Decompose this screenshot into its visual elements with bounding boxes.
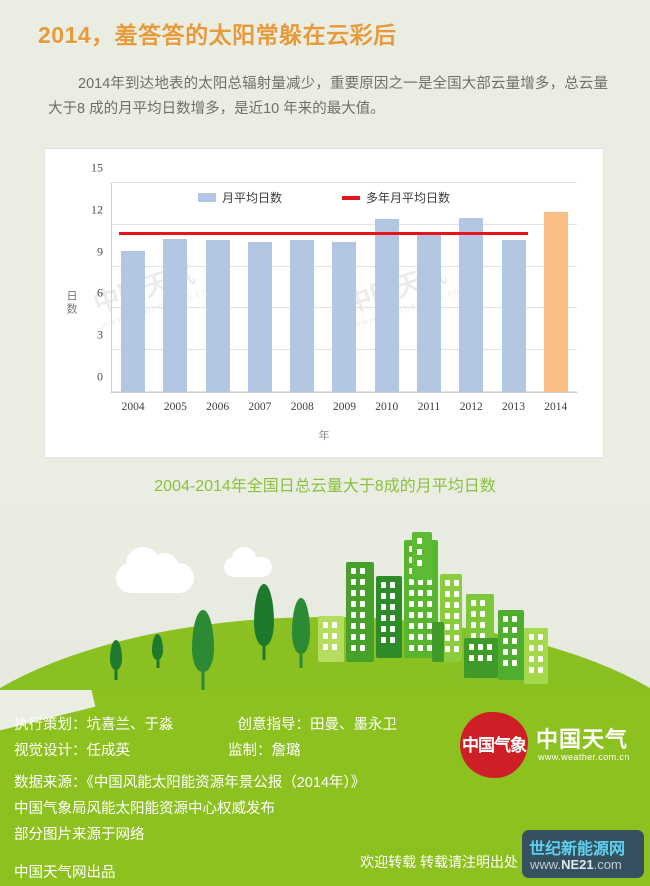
building-window xyxy=(427,612,432,618)
seal-icon: 中国气象 xyxy=(460,712,528,778)
produced-by: 中国天气网出品 xyxy=(14,860,397,886)
building-window xyxy=(418,590,423,596)
bar-slot: 2006 xyxy=(197,183,239,392)
building-window xyxy=(538,645,543,651)
building-window xyxy=(360,579,365,585)
y-axis-tick: 15 xyxy=(91,161,103,176)
bar-2010 xyxy=(375,219,399,392)
tree-trunk xyxy=(202,672,205,692)
tree-crown xyxy=(152,634,163,660)
bar-2006 xyxy=(206,240,230,392)
building-window xyxy=(480,611,485,617)
building-window xyxy=(445,624,450,630)
building-window xyxy=(390,593,395,599)
building-window xyxy=(445,646,450,652)
building-window xyxy=(478,644,483,650)
source-block: 数据来源：《中国风能太阳能资源年景公报（2014年）》 中国气象局风能太阳能资源… xyxy=(14,770,397,848)
building-window xyxy=(529,656,534,662)
bar-2009 xyxy=(332,242,356,392)
building-window xyxy=(454,635,459,641)
credits-block: 执行策划：坑喜兰、于淼创意指导：田曼、墨永卫 视觉设计：任成英监制：詹璐 数据来… xyxy=(14,712,397,886)
building-window xyxy=(503,627,508,633)
building-window xyxy=(351,645,356,651)
building-window xyxy=(454,613,459,619)
tree-crown xyxy=(292,598,310,654)
building-window xyxy=(390,615,395,621)
bar-slot: 2005 xyxy=(154,183,196,392)
building-window xyxy=(512,638,517,644)
bar-slot: 2013 xyxy=(492,183,534,392)
building-window xyxy=(409,645,414,651)
building-window xyxy=(332,633,337,639)
cloud-icon-large-puff-b xyxy=(152,553,178,579)
bar-2014 xyxy=(544,212,568,392)
plot-area: 15129630 2004200520062007200820092010201… xyxy=(111,183,577,393)
building-window xyxy=(409,634,414,640)
x-axis-tick: 2012 xyxy=(460,401,483,413)
building-window xyxy=(381,615,386,621)
building-2 xyxy=(346,562,374,662)
building-window xyxy=(471,600,476,606)
bar-slot: 2014 xyxy=(535,183,577,392)
building-window xyxy=(332,644,337,650)
x-axis-tick: 2004 xyxy=(122,401,145,413)
bar-2005 xyxy=(163,239,187,392)
tree-crown xyxy=(254,584,274,646)
building-window xyxy=(512,660,517,666)
repost-notice: 欢迎转载 转载请注明出处 xyxy=(360,852,518,872)
building-window xyxy=(351,579,356,585)
credit-row-2: 视觉设计：任成英监制：詹璐 xyxy=(14,738,397,764)
bar-slot: 2011 xyxy=(408,183,450,392)
tree-4 xyxy=(254,584,274,660)
building-window xyxy=(390,604,395,610)
building-window xyxy=(323,644,328,650)
building-9 xyxy=(464,638,498,678)
x-axis-label: 年 xyxy=(45,427,603,443)
chart-card: 中国天气www.weather.com.cn 中国天气www.weather.c… xyxy=(44,148,604,458)
building-window xyxy=(351,590,356,596)
bar-slot: 2010 xyxy=(366,183,408,392)
building-window xyxy=(512,627,517,633)
x-axis-tick: 2010 xyxy=(375,401,398,413)
ne21-watermark-url: www.NE21.com xyxy=(530,857,622,872)
credit-design: 视觉设计：任成英 xyxy=(14,743,130,759)
building-window xyxy=(381,604,386,610)
ne21-url-brand: NE21 xyxy=(561,857,594,872)
y-axis-tick: 0 xyxy=(97,370,103,385)
building-3 xyxy=(376,576,402,658)
building-window xyxy=(381,593,386,599)
bar-2013 xyxy=(502,240,526,392)
x-axis-tick: 2009 xyxy=(333,401,356,413)
tree-5 xyxy=(292,598,310,668)
building-window xyxy=(503,649,508,655)
building-window xyxy=(418,634,423,640)
building-window xyxy=(360,623,365,629)
building-window xyxy=(381,626,386,632)
building-window xyxy=(409,590,414,596)
building-window xyxy=(351,623,356,629)
credit-supervisor: 监制：詹璐 xyxy=(228,743,301,759)
building-window xyxy=(390,626,395,632)
tree-crown xyxy=(110,640,122,670)
intro-text: 2014年到达地表的太阳总辐射量减少，重要原因之一是全国大部云量增多，总云量大于… xyxy=(48,76,608,117)
building-window xyxy=(360,590,365,596)
building-window xyxy=(529,667,534,673)
building-window xyxy=(409,601,414,607)
bar-2011 xyxy=(417,232,441,392)
building-window xyxy=(351,634,356,640)
building-window xyxy=(538,667,543,673)
building-10 xyxy=(498,610,524,680)
bar-slot: 2009 xyxy=(323,183,365,392)
ne21-watermark-cn: 世纪新能源网 xyxy=(529,835,625,859)
y-axis-label: 日数 xyxy=(63,290,79,316)
building-window xyxy=(360,612,365,618)
bar-2007 xyxy=(248,242,272,392)
page-title: 2014，羞答答的太阳常躲在云彩后 xyxy=(38,16,397,50)
building-window xyxy=(445,580,450,586)
x-axis-tick: 2014 xyxy=(544,401,567,413)
x-axis-tick: 2013 xyxy=(502,401,525,413)
building-window xyxy=(454,624,459,630)
brand-logo: 中国气象 中国天气 www.weather.com.cn xyxy=(460,712,636,782)
building-window xyxy=(454,602,459,608)
building-window xyxy=(538,634,543,640)
building-window xyxy=(445,591,450,597)
y-axis-tick: 12 xyxy=(91,202,103,217)
tree-trunk xyxy=(263,646,266,660)
y-axis-tick: 3 xyxy=(97,328,103,343)
source-line-1: 数据来源：《中国风能太阳能资源年景公报（2014年）》 xyxy=(14,770,397,796)
credit-creative: 创意指导：田曼、墨永卫 xyxy=(238,717,398,733)
building-window xyxy=(480,600,485,606)
building-window xyxy=(381,637,386,643)
bar-slot: 2007 xyxy=(239,183,281,392)
tree-trunk xyxy=(115,670,118,680)
building-window xyxy=(529,645,534,651)
building-window xyxy=(360,601,365,607)
building-window xyxy=(454,591,459,597)
building-window xyxy=(418,645,423,651)
building-window xyxy=(409,623,414,629)
building-window xyxy=(351,568,356,574)
building-window xyxy=(445,635,450,641)
tree-trunk xyxy=(300,654,303,668)
building-window xyxy=(454,580,459,586)
building-window xyxy=(323,633,328,639)
building-window xyxy=(480,622,485,628)
illustration-scene xyxy=(0,505,650,720)
building-window xyxy=(538,656,543,662)
building-window xyxy=(418,623,423,629)
intro-paragraph: 2014年到达地表的太阳总辐射量减少，重要原因之一是全国大部云量增多，总云量大于… xyxy=(48,72,608,122)
infographic-page: 2014，羞答答的太阳常躲在云彩后 2014年到达地表的太阳总辐射量减少，重要原… xyxy=(0,0,650,886)
ne21-url-suffix: .com xyxy=(594,857,622,872)
bar-slot: 2008 xyxy=(281,183,323,392)
bar-slot: 2012 xyxy=(450,183,492,392)
logo-url: www.weather.com.cn xyxy=(538,752,630,762)
footer-band: 执行策划：坑喜兰、于淼创意指导：田曼、墨永卫 视觉设计：任成英监制：詹璐 数据来… xyxy=(0,690,650,886)
building-window xyxy=(487,644,492,650)
x-axis-tick: 2007 xyxy=(248,401,271,413)
x-axis-tick: 2008 xyxy=(291,401,314,413)
building-window xyxy=(390,637,395,643)
bar-2004 xyxy=(121,251,145,392)
building-window xyxy=(471,622,476,628)
building-window xyxy=(417,560,422,566)
x-axis-tick: 2006 xyxy=(206,401,229,413)
bar-group: 2004200520062007200820092010201120122013… xyxy=(112,183,577,392)
building-window xyxy=(454,646,459,652)
y-axis-tick: 6 xyxy=(97,286,103,301)
bar-slot: 2004 xyxy=(112,183,154,392)
building-window xyxy=(512,649,517,655)
building-window xyxy=(390,582,395,588)
building-window xyxy=(332,622,337,628)
ne21-url-prefix: www. xyxy=(530,857,561,872)
tree-2 xyxy=(152,634,163,668)
source-line-3: 部分图片来源于网络 xyxy=(14,822,397,848)
building-window xyxy=(469,644,474,650)
tree-1 xyxy=(110,640,122,680)
tree-3 xyxy=(192,610,214,692)
building-window xyxy=(503,660,508,666)
building-window xyxy=(418,612,423,618)
building-window xyxy=(469,655,474,661)
building-window xyxy=(512,616,517,622)
bar-2012 xyxy=(459,218,483,392)
building-window xyxy=(487,655,492,661)
building-window xyxy=(409,612,414,618)
building-window xyxy=(360,634,365,640)
building-window xyxy=(417,549,422,555)
credit-planning: 执行策划：坑喜兰、于淼 xyxy=(14,717,174,733)
logo-name: 中国天气 xyxy=(536,722,628,754)
ne21-watermark: 世纪新能源网 www.NE21.com xyxy=(522,830,644,878)
building-window xyxy=(427,590,432,596)
building-window xyxy=(503,638,508,644)
credit-row-1: 执行策划：坑喜兰、于淼创意指导：田曼、墨永卫 xyxy=(14,712,397,738)
x-axis-tick: 2011 xyxy=(418,401,441,413)
building-window xyxy=(418,601,423,607)
building-window xyxy=(351,601,356,607)
bar-2008 xyxy=(290,240,314,392)
building-window xyxy=(503,616,508,622)
average-line xyxy=(119,232,528,235)
building-window xyxy=(417,538,422,544)
x-axis-tick: 2005 xyxy=(164,401,187,413)
tree-trunk xyxy=(156,660,159,668)
cloud-icon-small-puff xyxy=(232,547,256,571)
building-window xyxy=(471,611,476,617)
building-window xyxy=(445,613,450,619)
building-window xyxy=(323,622,328,628)
y-axis-tick: 9 xyxy=(97,244,103,259)
building-7 xyxy=(432,622,444,662)
building-window xyxy=(529,634,534,640)
building-11 xyxy=(524,628,548,684)
building-5 xyxy=(412,532,432,580)
seal-label: 中国气象 xyxy=(460,712,528,778)
chart-caption: 2004-2014年全国日总云量大于8成的月平均日数 xyxy=(0,472,650,496)
building-1 xyxy=(318,616,344,662)
tree-crown xyxy=(192,610,214,672)
building-window xyxy=(381,582,386,588)
building-window xyxy=(360,568,365,574)
building-window xyxy=(351,612,356,618)
chart-inner: 中国天气www.weather.com.cn 中国天气www.weather.c… xyxy=(45,149,603,457)
building-window xyxy=(360,645,365,651)
building-window xyxy=(478,655,483,661)
building-window xyxy=(445,602,450,608)
building-window xyxy=(427,601,432,607)
source-line-2: 中国气象局风能太阳能资源中心权威发布 xyxy=(14,796,397,822)
